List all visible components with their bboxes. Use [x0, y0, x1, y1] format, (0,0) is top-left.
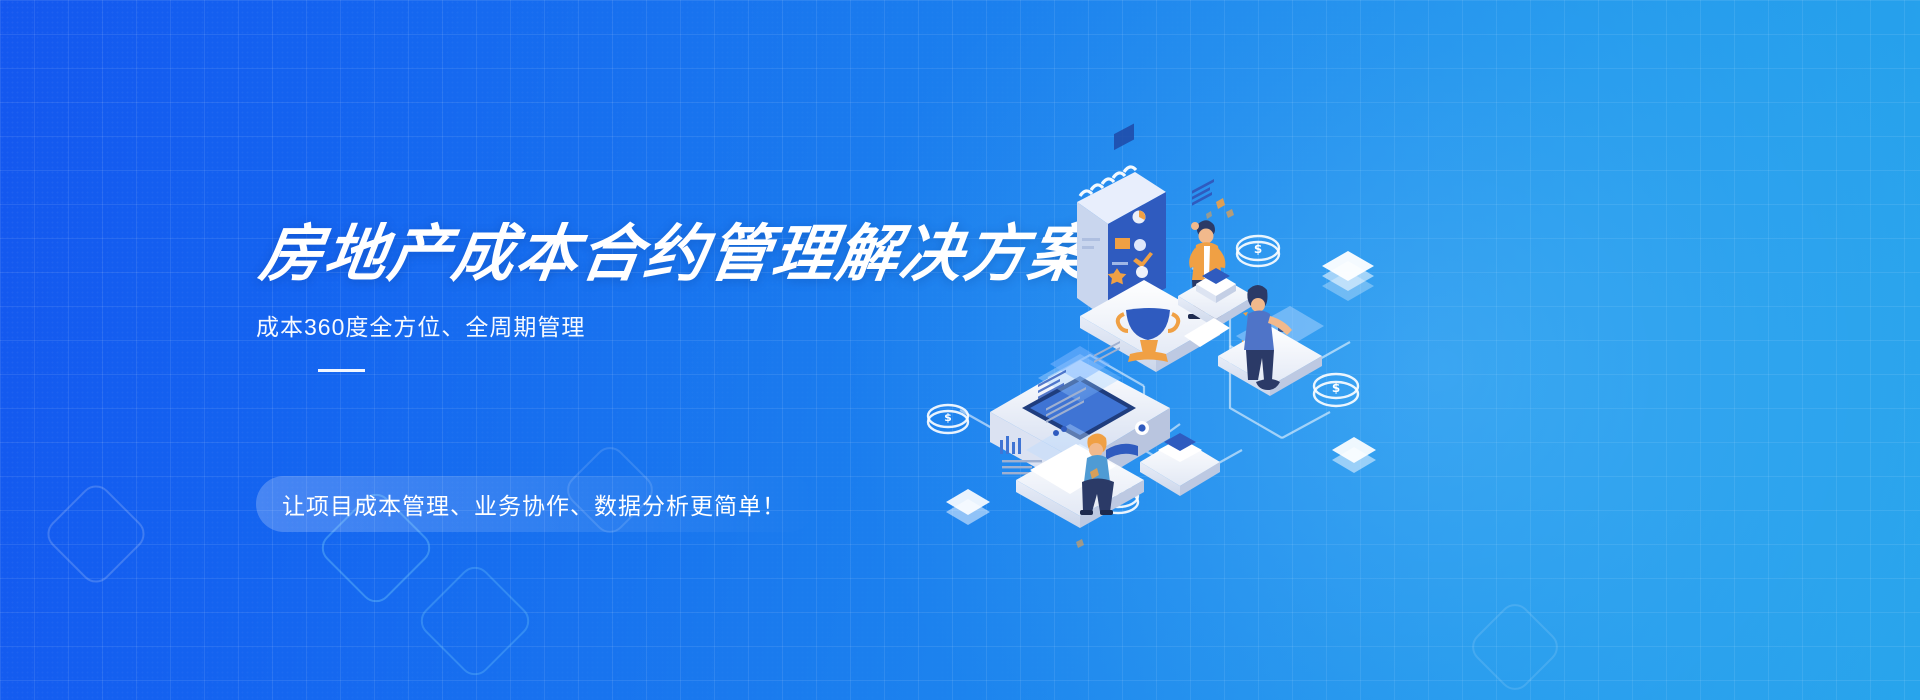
coin-stack-left: $	[928, 405, 968, 433]
decorative-diamond-icon	[41, 479, 151, 589]
hero-banner: 房地产成本合约管理解决方案 成本360度全方位、全周期管理 让项目成本管理、业务…	[0, 0, 1920, 700]
page-title: 房地产成本合约管理解决方案	[256, 222, 1045, 286]
page-subtitle: 成本360度全方位、全周期管理	[256, 313, 1036, 343]
coin-stack-right: $	[1314, 374, 1358, 406]
floating-platform	[1332, 437, 1376, 473]
svg-text:$: $	[944, 411, 952, 424]
floating-platform	[1322, 251, 1374, 301]
hero-copy-block: 房地产成本合约管理解决方案 成本360度全方位、全周期管理	[256, 222, 1036, 372]
hero-illustration: $ $ $ $	[930, 150, 1400, 570]
decorative-diamond-icon	[414, 560, 536, 682]
title-divider	[318, 369, 365, 372]
floating-platform	[946, 489, 990, 525]
coin-stack-right: $	[1237, 236, 1279, 266]
decorative-diamond-icon	[1466, 598, 1565, 697]
svg-text:$: $	[1332, 381, 1340, 395]
tagline-text: 让项目成本管理、业务协作、数据分析更简单！	[282, 487, 786, 521]
tagline-pill: 让项目成本管理、业务协作、数据分析更简单！	[256, 476, 816, 532]
svg-text:$: $	[1254, 242, 1262, 256]
